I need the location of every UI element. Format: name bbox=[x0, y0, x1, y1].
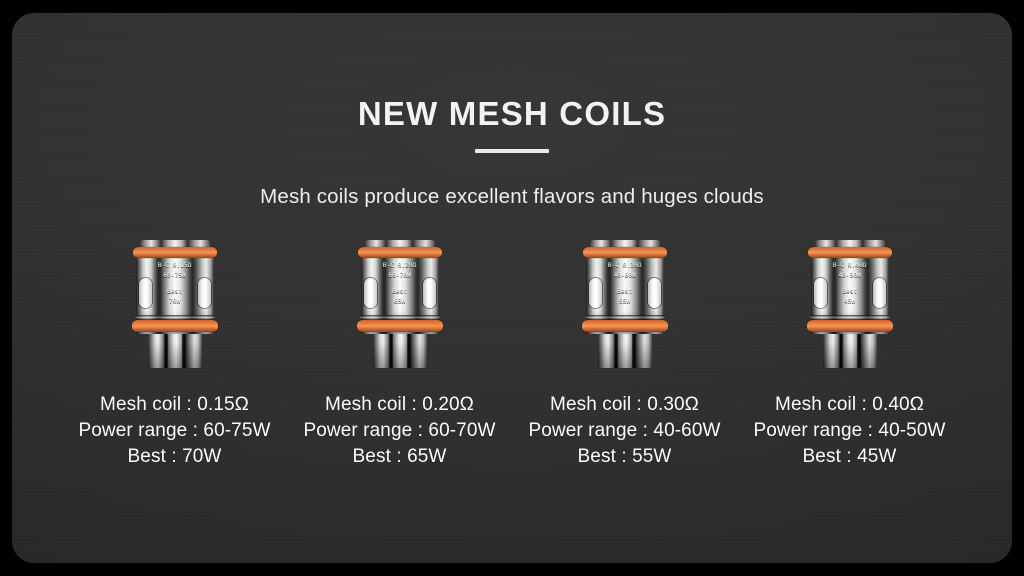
coil-juice-port-left bbox=[139, 278, 152, 308]
coil-oring-bottom bbox=[132, 320, 218, 332]
coil-juice-port-right bbox=[198, 278, 211, 308]
coil-power-range: Power range : 60-75W bbox=[78, 418, 270, 444]
coil-oring-top bbox=[583, 247, 667, 258]
banner-frame: NEW MESH COILS Mesh coils produce excell… bbox=[0, 0, 1024, 576]
coil-caption: Mesh coil : 0.15Ω Power range : 60-75W B… bbox=[78, 392, 270, 470]
page-title: NEW MESH COILS bbox=[12, 97, 1012, 130]
list-item: B-C 0.30Ω 40-60W Best 55W Mesh coil : 0.… bbox=[512, 240, 737, 470]
coil-oring-top bbox=[133, 247, 217, 258]
coil-image: B-C 0.15Ω 60-75W Best 70W bbox=[127, 240, 223, 370]
coil-oring-bottom bbox=[807, 320, 893, 332]
coil-oring-top bbox=[808, 247, 892, 258]
coil-juice-port-right bbox=[648, 278, 661, 308]
coil-list: B-C 0.15Ω 60-75W Best 70W Mesh coil : 0.… bbox=[12, 240, 1012, 470]
coil-image: B-C 0.20Ω 60-70W Best 65W bbox=[352, 240, 448, 370]
page-subtitle: Mesh coils produce excellent flavors and… bbox=[12, 185, 1012, 209]
coil-best-power: Best : 65W bbox=[303, 444, 495, 470]
coil-caption: Mesh coil : 0.30Ω Power range : 40-60W B… bbox=[528, 392, 720, 470]
coil-juice-port-left bbox=[589, 278, 602, 308]
coil-resistance: Mesh coil : 0.30Ω bbox=[528, 392, 720, 418]
list-item: B-C 0.15Ω 60-75W Best 70W Mesh coil : 0.… bbox=[62, 240, 287, 470]
coil-juice-port-right bbox=[873, 278, 886, 308]
coil-image: B-C 0.40Ω 40-50W Best 45W bbox=[802, 240, 898, 370]
coil-juice-port-left bbox=[814, 278, 827, 308]
list-item: B-C 0.40Ω 40-50W Best 45W Mesh coil : 0.… bbox=[737, 240, 962, 470]
coil-juice-port-right bbox=[423, 278, 436, 308]
coil-power-range: Power range : 40-60W bbox=[528, 418, 720, 444]
coil-resistance: Mesh coil : 0.40Ω bbox=[753, 392, 945, 418]
heading-block: NEW MESH COILS bbox=[12, 97, 1012, 153]
coil-best-power: Best : 45W bbox=[753, 444, 945, 470]
coil-caption: Mesh coil : 0.40Ω Power range : 40-50W B… bbox=[753, 392, 945, 470]
coil-caption: Mesh coil : 0.20Ω Power range : 60-70W B… bbox=[303, 392, 495, 470]
coil-resistance: Mesh coil : 0.20Ω bbox=[303, 392, 495, 418]
coil-image: B-C 0.30Ω 40-60W Best 55W bbox=[577, 240, 673, 370]
coil-juice-port-left bbox=[364, 278, 377, 308]
coil-resistance: Mesh coil : 0.15Ω bbox=[78, 392, 270, 418]
banner-panel: NEW MESH COILS Mesh coils produce excell… bbox=[12, 13, 1012, 563]
list-item: B-C 0.20Ω 60-70W Best 65W Mesh coil : 0.… bbox=[287, 240, 512, 470]
coil-oring-bottom bbox=[357, 320, 443, 332]
coil-power-range: Power range : 60-70W bbox=[303, 418, 495, 444]
coil-power-range: Power range : 40-50W bbox=[753, 418, 945, 444]
coil-best-power: Best : 55W bbox=[528, 444, 720, 470]
coil-oring-top bbox=[358, 247, 442, 258]
coil-oring-bottom bbox=[582, 320, 668, 332]
coil-best-power: Best : 70W bbox=[78, 444, 270, 470]
title-underline bbox=[475, 149, 549, 153]
